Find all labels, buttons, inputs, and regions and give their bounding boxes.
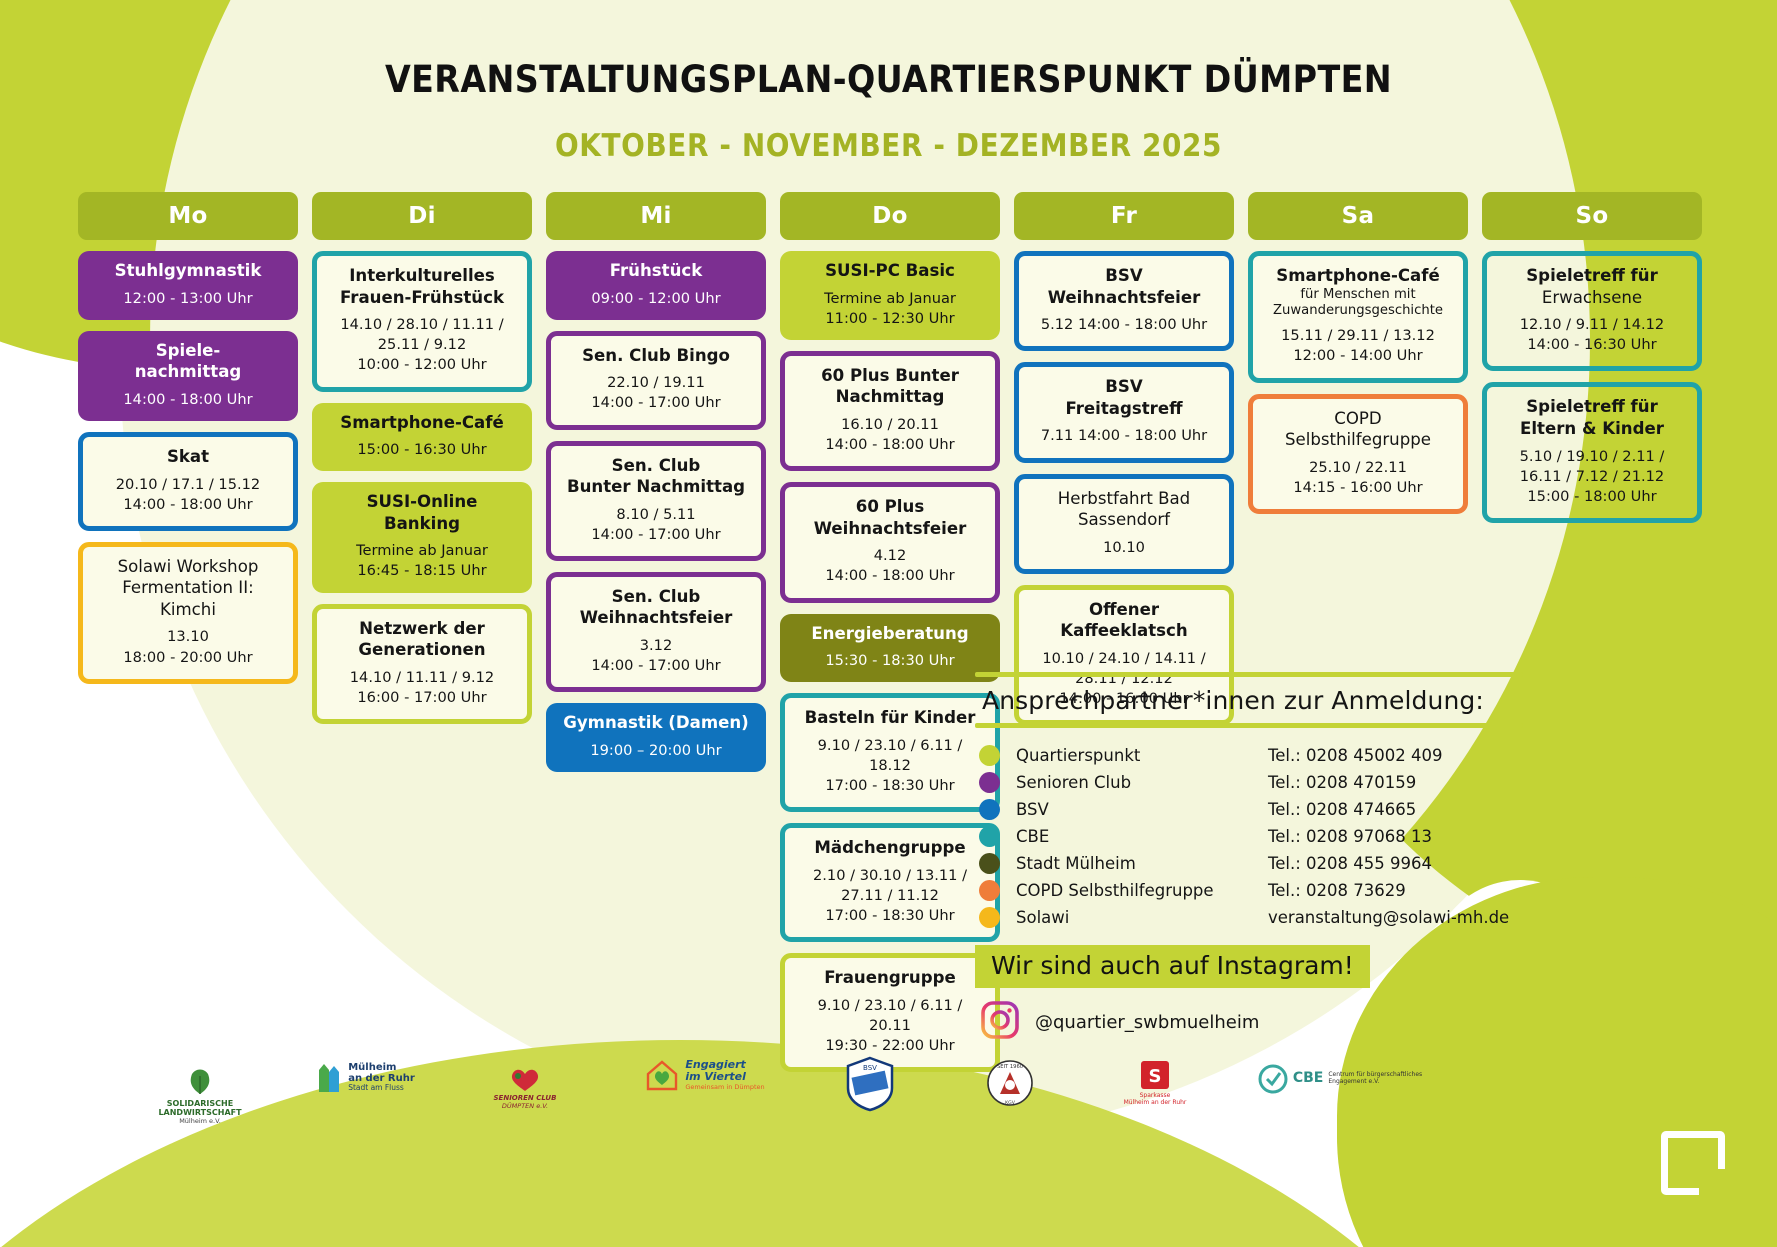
- svg-text:KGV: KGV: [1005, 1100, 1016, 1106]
- event-details: 15:30 - 18:30 Uhr: [787, 651, 993, 671]
- event-card[interactable]: Gymnastik (Damen)19:00 – 20:00 Uhr: [546, 703, 766, 772]
- event-card[interactable]: Sen. Club Bingo22.10 / 19.1114:00 - 17:0…: [546, 331, 766, 430]
- event-card[interactable]: Sen. ClubBunter Nachmittag8.10 / 5.1114:…: [546, 441, 766, 561]
- event-details: 4.1214:00 - 18:00 Uhr: [792, 546, 988, 586]
- event-title: Sen. ClubWeihnachtsfeier: [558, 586, 754, 629]
- event-card[interactable]: Frühstück09:00 - 12:00 Uhr: [546, 251, 766, 320]
- svg-text:SEIT 1960: SEIT 1960: [997, 1064, 1023, 1070]
- event-title-second: Erwachsene: [1494, 287, 1690, 309]
- event-details: 22.10 / 19.1114:00 - 17:00 Uhr: [558, 373, 754, 413]
- legend-contact: Tel.: 0208 97068 13: [1268, 827, 1432, 846]
- calendar-column-mo: MoStuhlgymnastik12:00 - 13:00 UhrSpiele-…: [78, 192, 298, 1072]
- legend-color-dot: [979, 880, 1000, 901]
- day-header-sa: Sa: [1248, 192, 1468, 240]
- event-details: 9.10 / 23.10 / 6.11 /18.1217:00 - 18:30 …: [792, 736, 988, 796]
- event-details: 20.10 / 17.1 / 15.1214:00 - 18:00 Uhr: [90, 475, 286, 515]
- legend-color-dot: [979, 907, 1000, 928]
- event-title: Frauengruppe: [792, 967, 988, 989]
- event-subtitle: für Menschen mitZuwanderungsgeschichte: [1260, 287, 1456, 320]
- swb-quartierspunkt-mark: [1661, 1131, 1725, 1195]
- event-card[interactable]: Herbstfahrt BadSassendorf10.10: [1014, 474, 1234, 574]
- legend-color-dot: [979, 853, 1000, 874]
- legend-color-dot: [979, 826, 1000, 847]
- muelheim-an-der-ruhr-logo: Mülheiman der Ruhr Stadt am Fluss: [300, 1060, 430, 1094]
- legend-contact: veranstaltung@solawi-mh.de: [1268, 908, 1509, 927]
- event-title: 60 PlusWeihnachtsfeier: [792, 496, 988, 539]
- event-card[interactable]: Spieletreff fürEltern & Kinder5.10 / 19.…: [1482, 382, 1702, 523]
- event-details: Termine ab Januar11:00 - 12:30 Uhr: [787, 289, 993, 329]
- event-details: 5.12 14:00 - 18:00 Uhr: [1026, 315, 1222, 335]
- event-title: OffenerKaffeeklatsch: [1026, 599, 1222, 642]
- event-details: 7.11 14:00 - 18:00 Uhr: [1026, 426, 1222, 446]
- event-title: SUSI-OnlineBanking: [319, 491, 525, 534]
- calendar-column-di: DiInterkulturellesFrauen-Frühstück14.10 …: [312, 192, 532, 1072]
- event-title: Netzwerk derGenerationen: [324, 618, 520, 661]
- legend-row: Solawiveranstaltung@solawi-mh.de: [975, 904, 1675, 931]
- legend-contact: Tel.: 0208 470159: [1268, 773, 1416, 792]
- event-card[interactable]: Spieletreff fürErwachsene12.10 / 9.11 / …: [1482, 251, 1702, 371]
- event-title: Spiele-nachmittag: [85, 340, 291, 383]
- legend-organisation: Stadt Mülheim: [1016, 854, 1268, 873]
- event-title: Solawi WorkshopFermentation II:Kimchi: [90, 556, 286, 621]
- legend-row: COPD SelbsthilfegruppeTel.: 0208 73629: [975, 877, 1675, 904]
- poster-subtitle: OKTOBER - NOVEMBER - DEZEMBER 2025: [0, 128, 1777, 164]
- event-card[interactable]: Sen. ClubWeihnachtsfeier3.1214:00 - 17:0…: [546, 572, 766, 692]
- event-details: Termine ab Januar16:45 - 18:15 Uhr: [319, 541, 525, 581]
- event-title: Smartphone-Café: [1260, 265, 1456, 287]
- event-title: SUSI-PC Basic: [787, 260, 993, 282]
- event-title: Energieberatung: [787, 623, 993, 645]
- event-card[interactable]: BSVFreitagstreff7.11 14:00 - 18:00 Uhr: [1014, 362, 1234, 462]
- day-header-do: Do: [780, 192, 1000, 240]
- calendar-column-mi: MiFrühstück09:00 - 12:00 UhrSen. Club Bi…: [546, 192, 766, 1072]
- event-title: Herbstfahrt BadSassendorf: [1026, 488, 1222, 531]
- senioren-club-duempten-logo: SENIOREN CLUB DÜMPTEN e.V.: [470, 1064, 580, 1110]
- day-header-fr: Fr: [1014, 192, 1234, 240]
- day-header-so: So: [1482, 192, 1702, 240]
- solidarische-landwirtschaft-logo: SOLIDARISCHELANDWIRTSCHAFT Mülheim e.V.: [140, 1064, 260, 1125]
- legend-contact: Tel.: 0208 474665: [1268, 800, 1416, 819]
- event-card[interactable]: Spiele-nachmittag14:00 - 18:00 Uhr: [78, 331, 298, 421]
- legend-row: Stadt MülheimTel.: 0208 455 9964: [975, 850, 1675, 877]
- event-title: Basteln für Kinder: [792, 707, 988, 729]
- event-card[interactable]: SUSI-PC BasicTermine ab Januar11:00 - 12…: [780, 251, 1000, 340]
- cbe-logo: CBE Centrum für bürgerschaftlichesEngage…: [1240, 1064, 1440, 1094]
- legend-color-dot: [979, 799, 1000, 820]
- legend-organisation: Solawi: [1016, 908, 1268, 927]
- event-details: 12:00 - 13:00 Uhr: [85, 289, 291, 309]
- event-details: 12.10 / 9.11 / 14.1214:00 - 16:30 Uhr: [1494, 315, 1690, 355]
- legend-organisation: CBE: [1016, 827, 1268, 846]
- event-title: COPDSelbsthilfegruppe: [1260, 408, 1456, 451]
- event-details: 09:00 - 12:00 Uhr: [553, 289, 759, 309]
- legend-organisation: Quartierspunkt: [1016, 746, 1268, 765]
- day-header-di: Di: [312, 192, 532, 240]
- kleingartenverein-logo: SEIT 1960 KGV: [960, 1058, 1060, 1108]
- svg-text:BSV: BSV: [863, 1064, 877, 1072]
- engagiert-im-viertel-logo: Engagiertim Viertel Gemeinsam in Dümpten: [625, 1058, 785, 1092]
- day-header-mo: Mo: [78, 192, 298, 240]
- event-details: 14:00 - 18:00 Uhr: [85, 390, 291, 410]
- legend-row: CBETel.: 0208 97068 13: [975, 823, 1675, 850]
- event-title: Smartphone-Café: [319, 412, 525, 434]
- legend-organisation: BSV: [1016, 800, 1268, 819]
- event-title: Skat: [90, 446, 286, 468]
- day-header-mi: Mi: [546, 192, 766, 240]
- legend-row: Senioren ClubTel.: 0208 470159: [975, 769, 1675, 796]
- legend-contact: Tel.: 0208 45002 409: [1268, 746, 1443, 765]
- contact-legend: QuartierspunktTel.: 0208 45002 409Senior…: [975, 742, 1675, 931]
- legend-organisation: Senioren Club: [1016, 773, 1268, 792]
- event-details: 15.11 / 29.11 / 13.1212:00 - 14:00 Uhr: [1260, 326, 1456, 366]
- event-card[interactable]: Energieberatung15:30 - 18:30 Uhr: [780, 614, 1000, 683]
- event-details: 10.10: [1026, 538, 1222, 558]
- event-details: 19:00 – 20:00 Uhr: [553, 741, 759, 761]
- legend-contact: Tel.: 0208 73629: [1268, 881, 1406, 900]
- event-title: BSVFreitagstreff: [1026, 376, 1222, 419]
- event-details: 5.10 / 19.10 / 2.11 /16.11 / 7.12 / 21.1…: [1494, 447, 1690, 507]
- event-title: Stuhlgymnastik: [85, 260, 291, 282]
- legend-contact: Tel.: 0208 455 9964: [1268, 854, 1432, 873]
- contact-panel: Ansprechpartner*innen zur Anmeldung: Qua…: [975, 672, 1675, 1043]
- event-title: Sen. Club Bingo: [558, 345, 754, 367]
- event-title: Spieletreff fürEltern & Kinder: [1494, 396, 1690, 439]
- event-details: 13.1018:00 - 20:00 Uhr: [90, 627, 286, 667]
- event-card[interactable]: 60 PlusWeihnachtsfeier4.1214:00 - 18:00 …: [780, 482, 1000, 602]
- event-details: 8.10 / 5.1114:00 - 17:00 Uhr: [558, 505, 754, 545]
- event-card[interactable]: Stuhlgymnastik12:00 - 13:00 Uhr: [78, 251, 298, 320]
- event-title: Gymnastik (Damen): [553, 712, 759, 734]
- contact-heading: Ansprechpartner*innen zur Anmeldung:: [975, 677, 1675, 723]
- event-calendar-poster: VERANSTALTUNGSPLAN-QUARTIERSPUNKT DÜMPTE…: [0, 0, 1777, 1247]
- event-card[interactable]: Netzwerk derGenerationen14.10 / 11.11 / …: [312, 604, 532, 724]
- event-card[interactable]: COPDSelbsthilfegruppe25.10 / 22.1114:15 …: [1248, 394, 1468, 514]
- event-details: 2.10 / 30.10 / 13.11 /27.11 / 11.1217:00…: [792, 866, 988, 926]
- event-card[interactable]: Smartphone-Café15:00 - 16:30 Uhr: [312, 403, 532, 472]
- event-title: Spieletreff für: [1494, 265, 1690, 287]
- event-card[interactable]: InterkulturellesFrauen-Frühstück14.10 / …: [312, 251, 532, 392]
- event-title: 60 Plus BunterNachmittag: [792, 365, 988, 408]
- event-card[interactable]: Solawi WorkshopFermentation II:Kimchi13.…: [78, 542, 298, 684]
- event-details: 25.10 / 22.1114:15 - 16:00 Uhr: [1260, 458, 1456, 498]
- sparkasse-logo: S SparkasseMülheim an der Ruhr: [1100, 1060, 1210, 1106]
- event-title: Mädchengruppe: [792, 837, 988, 859]
- event-title: Frühstück: [553, 260, 759, 282]
- event-card[interactable]: 60 Plus BunterNachmittag16.10 / 20.1114:…: [780, 351, 1000, 471]
- instagram-banner: Wir sind auch auf Instagram!: [975, 945, 1370, 988]
- footer-logo-strip: SOLIDARISCHELANDWIRTSCHAFT Mülheim e.V. …: [0, 1030, 1777, 1140]
- event-card[interactable]: Skat20.10 / 17.1 / 15.1214:00 - 18:00 Uh…: [78, 432, 298, 531]
- svg-text:S: S: [1149, 1066, 1162, 1087]
- event-card[interactable]: Smartphone-Caféfür Menschen mitZuwanderu…: [1248, 251, 1468, 383]
- event-details: 16.10 / 20.1114:00 - 18:00 Uhr: [792, 415, 988, 455]
- event-details: 15:00 - 16:30 Uhr: [319, 440, 525, 460]
- event-details: 14.10 / 11.11 / 9.1216:00 - 17:00 Uhr: [324, 668, 520, 708]
- event-details: 3.1214:00 - 17:00 Uhr: [558, 636, 754, 676]
- event-card[interactable]: BSVWeihnachtsfeier5.12 14:00 - 18:00 Uhr: [1014, 251, 1234, 351]
- event-title: Sen. ClubBunter Nachmittag: [558, 455, 754, 498]
- legend-color-dot: [979, 772, 1000, 793]
- legend-organisation: COPD Selbsthilfegruppe: [1016, 881, 1268, 900]
- calendar-column-do: DoSUSI-PC BasicTermine ab Januar11:00 - …: [780, 192, 1000, 1072]
- contact-rule-bottom: [975, 723, 1523, 728]
- event-details: 14.10 / 28.10 / 11.11 /25.11 / 9.1210:00…: [324, 315, 520, 375]
- poster-title: VERANSTALTUNGSPLAN-QUARTIERSPUNKT DÜMPTE…: [0, 58, 1777, 101]
- event-card[interactable]: Basteln für Kinder9.10 / 23.10 / 6.11 /1…: [780, 693, 1000, 812]
- legend-row: BSVTel.: 0208 474665: [975, 796, 1675, 823]
- event-card[interactable]: SUSI-OnlineBankingTermine ab Januar16:45…: [312, 482, 532, 592]
- event-title: InterkulturellesFrauen-Frühstück: [324, 265, 520, 308]
- bsv-logo: BSV: [838, 1056, 902, 1112]
- event-title: BSVWeihnachtsfeier: [1026, 265, 1222, 308]
- legend-row: QuartierspunktTel.: 0208 45002 409: [975, 742, 1675, 769]
- event-card[interactable]: Mädchengruppe2.10 / 30.10 / 13.11 /27.11…: [780, 823, 1000, 942]
- legend-color-dot: [979, 745, 1000, 766]
